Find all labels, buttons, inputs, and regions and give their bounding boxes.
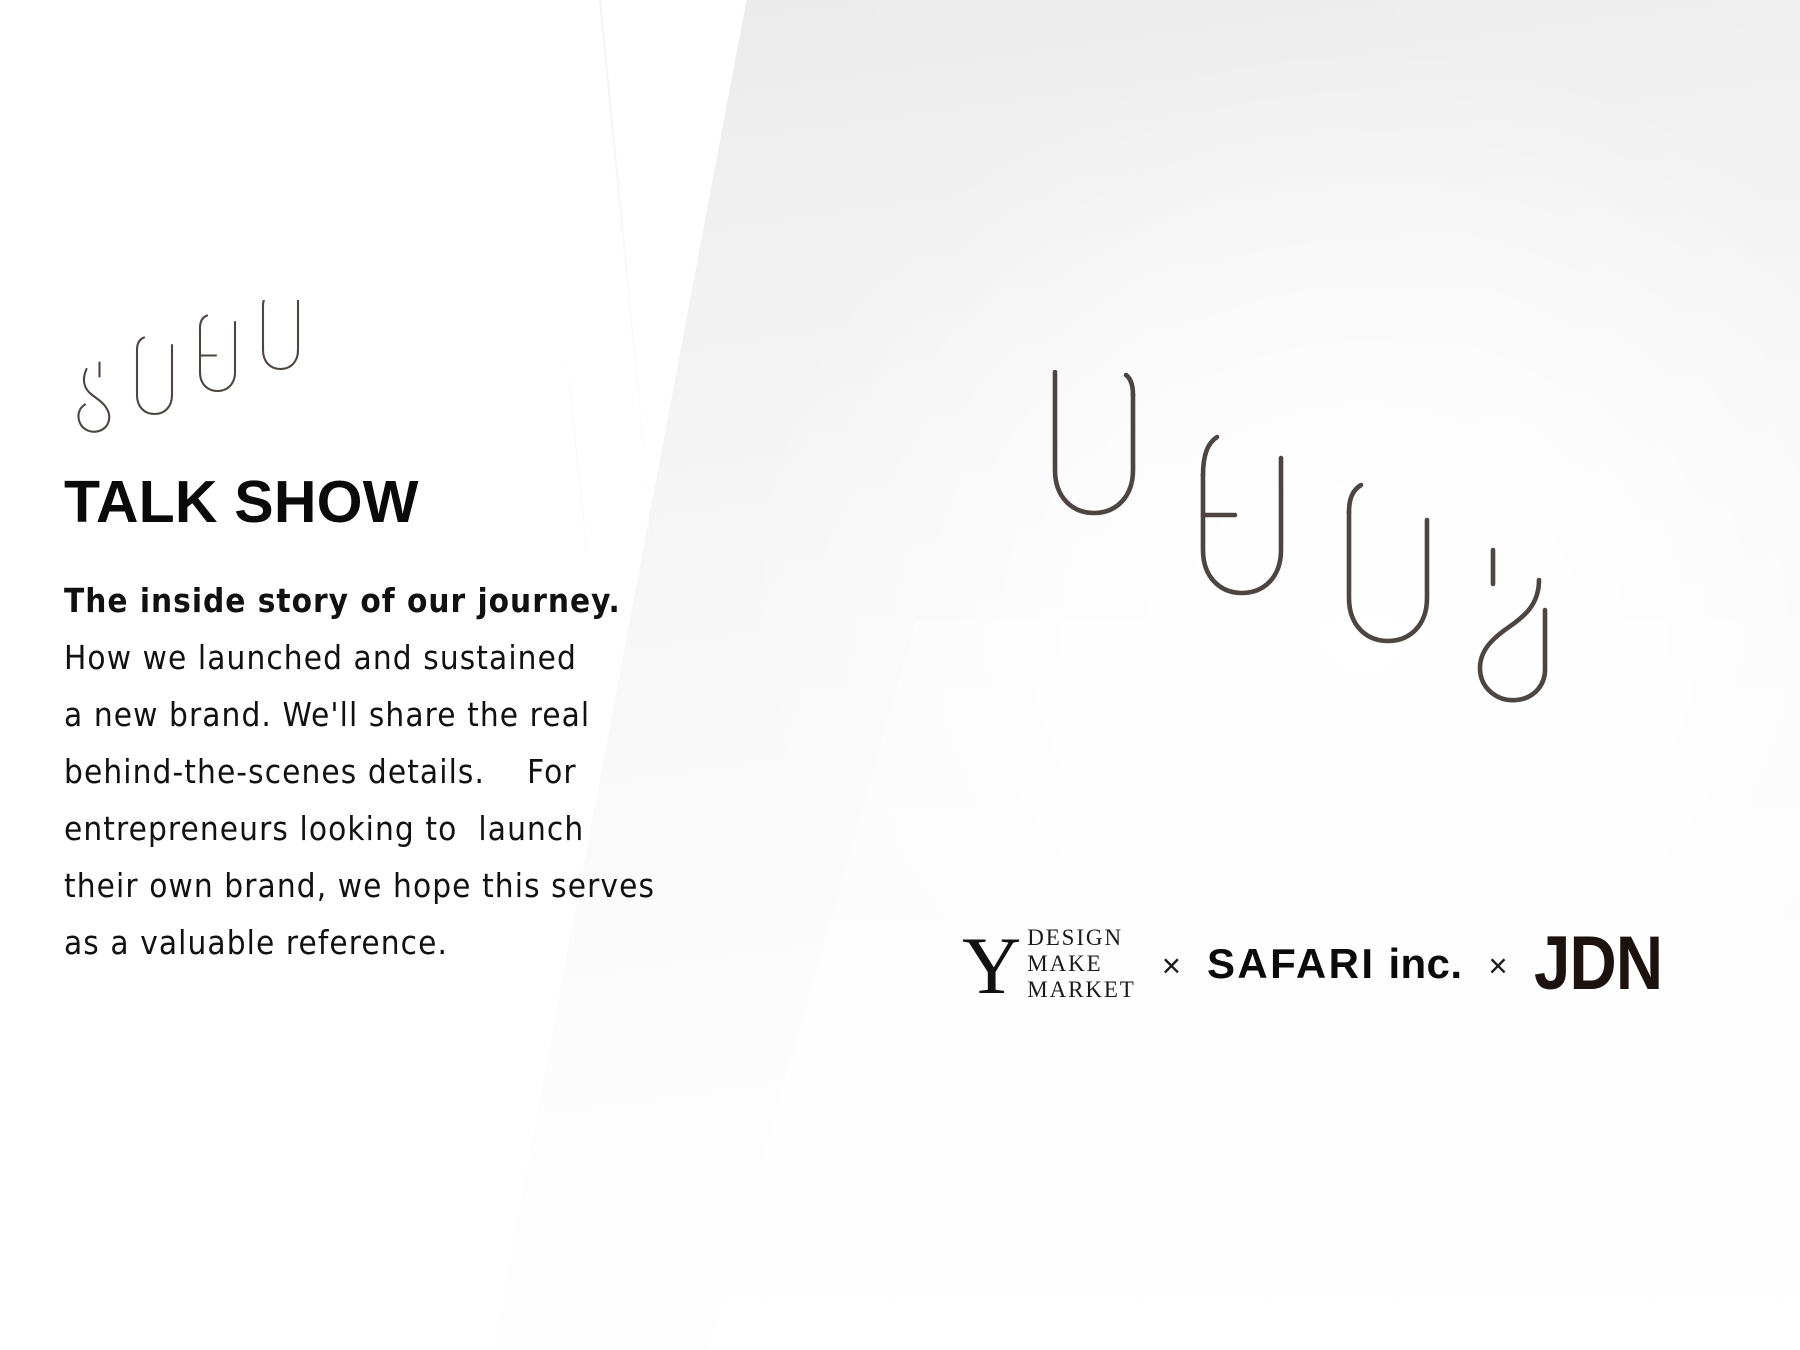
logo-y-design-make-market: Y DESIGN MAKE MARKET xyxy=(962,925,1136,1003)
sugu-letter-u-2-large xyxy=(1349,485,1427,641)
y-monogram: Y xyxy=(962,932,1021,999)
sugu-letter-s-large xyxy=(1480,550,1545,700)
ymm-word-design: DESIGN xyxy=(1027,925,1136,951)
sugu-logo-large xyxy=(1045,370,1635,710)
body-line-6: as a valuable reference. xyxy=(64,914,884,971)
page-title: TALK SHOW xyxy=(64,473,884,532)
sugu-logo-large-container xyxy=(1045,370,1635,710)
safari-inc-suffix: inc. xyxy=(1388,940,1462,987)
partner-logo-row: Y DESIGN MAKE MARKET × SAFARIinc. × JDN xyxy=(962,925,1683,1003)
body-lead-line: The inside story of our journey. xyxy=(64,572,884,629)
body-copy: The inside story of our journey. How we … xyxy=(64,572,884,971)
sugu-letter-s-small xyxy=(78,363,109,432)
separator-cross-icon-2: × xyxy=(1462,949,1533,982)
sugu-letter-u-2-small xyxy=(263,300,298,369)
sugu-letter-g-large xyxy=(1203,437,1281,593)
body-line-3: behind-the-scenes details. For xyxy=(64,743,884,800)
sugu-logo-small xyxy=(64,300,319,435)
logo-jdn: JDN xyxy=(1534,926,1662,1002)
safari-wordmark: SAFARI xyxy=(1207,940,1375,987)
body-line-4: entrepreneurs looking to launch xyxy=(64,800,884,857)
body-line-1: How we launched and sustained xyxy=(64,629,884,686)
left-content-column: TALK SHOW The inside story of our journe… xyxy=(64,300,884,971)
ymm-wordmark: DESIGN MAKE MARKET xyxy=(1027,925,1136,1003)
ymm-word-make: MAKE xyxy=(1027,951,1136,977)
sugu-letter-u-1-large xyxy=(1055,372,1133,513)
sugu-letter-u-1-small xyxy=(137,338,172,415)
logo-safari-inc: SAFARIinc. xyxy=(1207,943,1462,985)
separator-cross-icon-1: × xyxy=(1136,949,1207,982)
body-line-5: their own brand, we hope this serves xyxy=(64,857,884,914)
body-line-2: a new brand. We'll share the real xyxy=(64,686,884,743)
ymm-word-market: MARKET xyxy=(1027,977,1136,1003)
sugu-letter-g-small xyxy=(200,316,235,392)
slide-canvas: TALK SHOW The inside story of our journe… xyxy=(0,0,1800,1350)
